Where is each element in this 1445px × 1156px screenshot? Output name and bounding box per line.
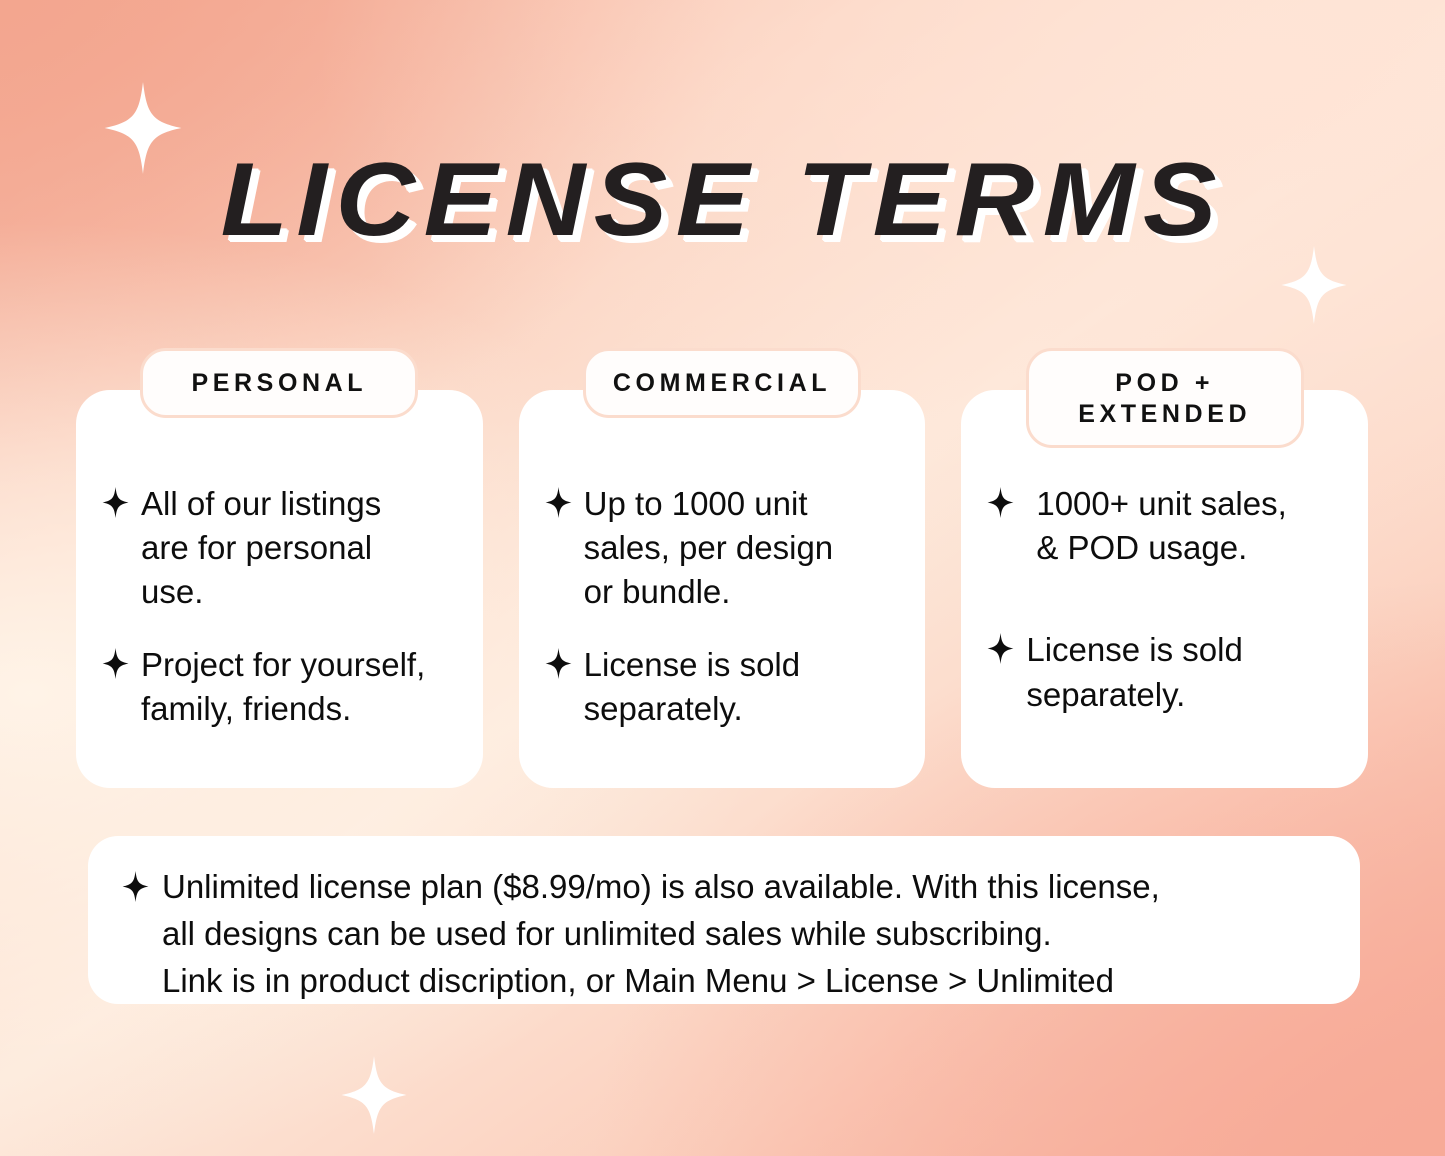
list-item-text: Up to 1000 unit sales, per design or bun… (584, 482, 900, 615)
sparkle-icon (122, 871, 149, 902)
list-item: License is sold separately. (545, 643, 900, 731)
sparkle-icon-bottom-left (341, 1056, 407, 1134)
list-item-text: All of our listings are for personal use… (141, 482, 457, 615)
sparkle-icon (987, 487, 1014, 518)
card-body-personal: All of our listings are for personal use… (76, 482, 483, 731)
list-item-text: License is sold separately. (1026, 628, 1342, 716)
sparkle-icon-top-right (1281, 246, 1347, 324)
list-item: Up to 1000 unit sales, per design or bun… (545, 482, 900, 615)
list-item: All of our listings are for personal use… (102, 482, 457, 615)
card-heading-personal: PERSONAL (140, 348, 418, 418)
sparkle-icon (102, 648, 129, 679)
list-item-text: License is sold separately. (584, 643, 900, 731)
license-card-personal: PERSONAL All of our listings are for per… (76, 390, 483, 788)
page-title: LICENSE TERMS (220, 148, 1224, 252)
list-item: 1000+ unit sales, & POD usage. (987, 482, 1342, 570)
unlimited-plan-text: Unlimited license plan ($8.99/mo) is als… (162, 864, 1160, 1005)
card-body-commercial: Up to 1000 unit sales, per design or bun… (519, 482, 926, 731)
license-card-pod-extended: POD + EXTENDED 1000+ unit sales, & POD u… (961, 390, 1368, 788)
unlimited-plan-banner-content: Unlimited license plan ($8.99/mo) is als… (122, 864, 1332, 1005)
sparkle-icon (987, 633, 1014, 664)
license-tier-cards: PERSONAL All of our listings are for per… (76, 390, 1368, 788)
card-body-pod-extended: 1000+ unit sales, & POD usage. License i… (961, 482, 1368, 717)
list-item: Project for yourself, family, friends. (102, 643, 457, 731)
license-card-commercial: COMMERCIAL Up to 1000 unit sales, per de… (519, 390, 926, 788)
list-item-text: 1000+ unit sales, & POD usage. (1036, 482, 1342, 570)
unlimited-plan-banner: Unlimited license plan ($8.99/mo) is als… (88, 836, 1360, 1004)
list-item-text: Project for yourself, family, friends. (141, 643, 457, 731)
list-item: License is sold separately. (987, 628, 1342, 716)
card-heading-commercial: COMMERCIAL (583, 348, 861, 418)
sparkle-icon (545, 648, 572, 679)
card-heading-pod-extended: POD + EXTENDED (1026, 348, 1304, 448)
license-terms-poster: LICENSE TERMS PERSONAL All of our listin… (0, 0, 1445, 1156)
sparkle-icon (545, 487, 572, 518)
sparkle-icon (102, 487, 129, 518)
page-title-wrap: LICENSE TERMS (0, 148, 1445, 252)
